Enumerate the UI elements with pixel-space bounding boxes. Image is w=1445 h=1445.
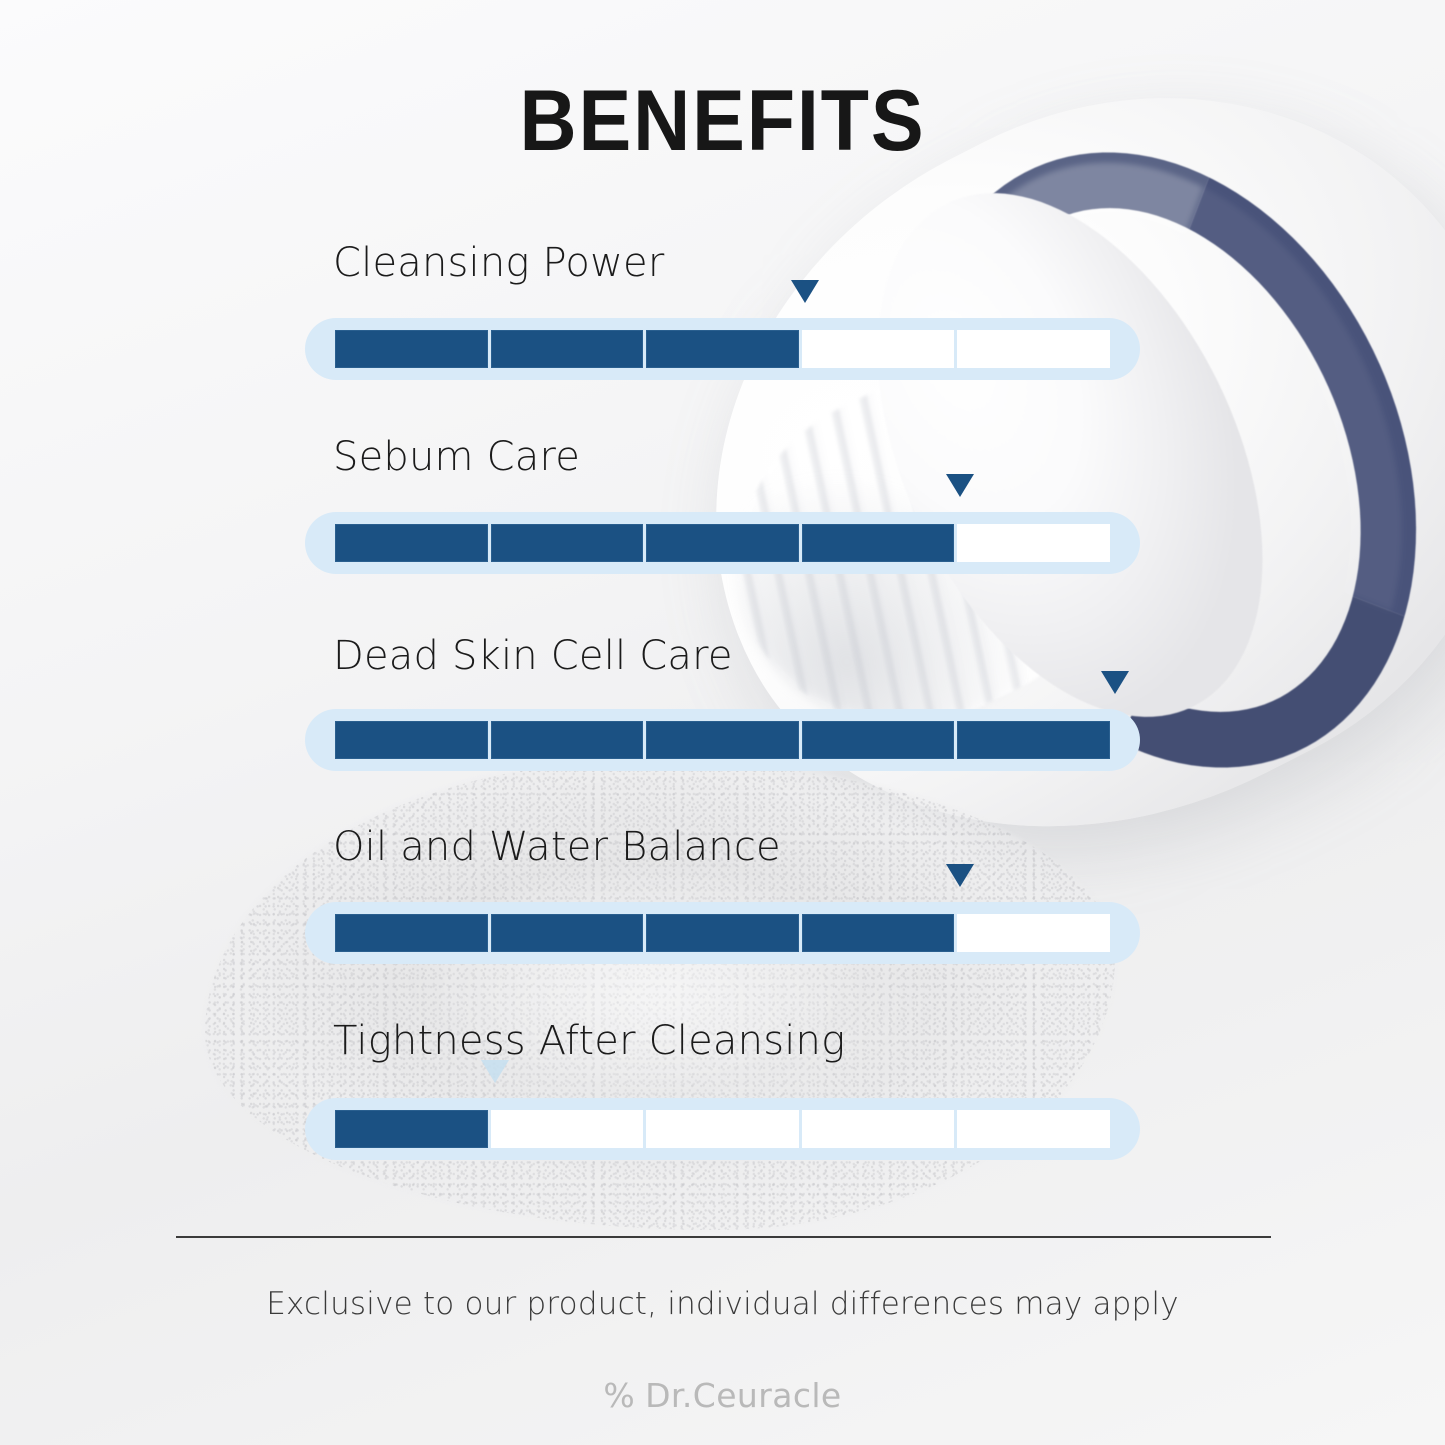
bar-segment xyxy=(335,914,488,952)
benefit-label: Oil and Water Balance xyxy=(333,824,781,870)
benefit-bar-segments xyxy=(335,914,1110,952)
benefit-value-marker xyxy=(946,474,974,497)
droplet-percent-icon: % xyxy=(603,1376,635,1415)
benefit-bar-track xyxy=(305,902,1140,964)
benefit-value-marker xyxy=(791,280,819,303)
bar-segment xyxy=(957,721,1110,759)
benefit-bar-segments xyxy=(335,721,1110,759)
benefit-bar-track xyxy=(305,512,1140,574)
benefit-label: Cleansing Power xyxy=(333,240,664,286)
bar-segment xyxy=(491,914,644,952)
bar-segment xyxy=(335,1110,488,1148)
benefit-label: Sebum Care xyxy=(333,434,580,480)
bar-segment xyxy=(335,721,488,759)
bar-segment xyxy=(957,524,1110,562)
benefit-bar-track xyxy=(305,318,1140,380)
benefit-value-marker xyxy=(481,1060,509,1083)
benefit-bar-segments xyxy=(335,524,1110,562)
bar-segment xyxy=(491,721,644,759)
page-title: BENEFITS xyxy=(58,78,1387,164)
bar-segment xyxy=(802,524,955,562)
bar-segment xyxy=(802,1110,955,1148)
infographic-canvas: BENEFITS Cleansing Power Sebum Care xyxy=(0,0,1445,1445)
benefit-label: Dead Skin Cell Care xyxy=(333,633,733,679)
benefit-bar-segments xyxy=(335,330,1110,368)
brand-logo: %Dr.Ceuracle xyxy=(0,1376,1445,1415)
bar-segment xyxy=(802,914,955,952)
bar-segment xyxy=(646,1110,799,1148)
bar-segment xyxy=(957,330,1110,368)
bar-segment xyxy=(491,524,644,562)
content-layer: BENEFITS Cleansing Power Sebum Care xyxy=(0,0,1445,1445)
bar-segment xyxy=(802,330,955,368)
benefit-bar-segments xyxy=(335,1110,1110,1148)
benefit-value-marker xyxy=(946,864,974,887)
bar-segment xyxy=(335,330,488,368)
benefit-label: Tightness After Cleansing xyxy=(333,1018,845,1064)
bar-segment xyxy=(491,330,644,368)
bar-segment xyxy=(957,1110,1110,1148)
disclaimer-text: Exclusive to our product, individual dif… xyxy=(0,1286,1445,1322)
bar-segment xyxy=(646,914,799,952)
benefit-bar-track xyxy=(305,1098,1140,1160)
bar-segment xyxy=(957,914,1110,952)
brand-name: Dr.Ceuracle xyxy=(645,1376,842,1415)
bar-segment xyxy=(646,721,799,759)
bar-segment xyxy=(491,1110,644,1148)
benefit-value-marker xyxy=(1101,671,1129,694)
bar-segment xyxy=(335,524,488,562)
bar-segment xyxy=(646,330,799,368)
bar-segment xyxy=(646,524,799,562)
benefit-bar-track xyxy=(305,709,1140,771)
footer-divider xyxy=(176,1236,1271,1238)
bar-segment xyxy=(802,721,955,759)
